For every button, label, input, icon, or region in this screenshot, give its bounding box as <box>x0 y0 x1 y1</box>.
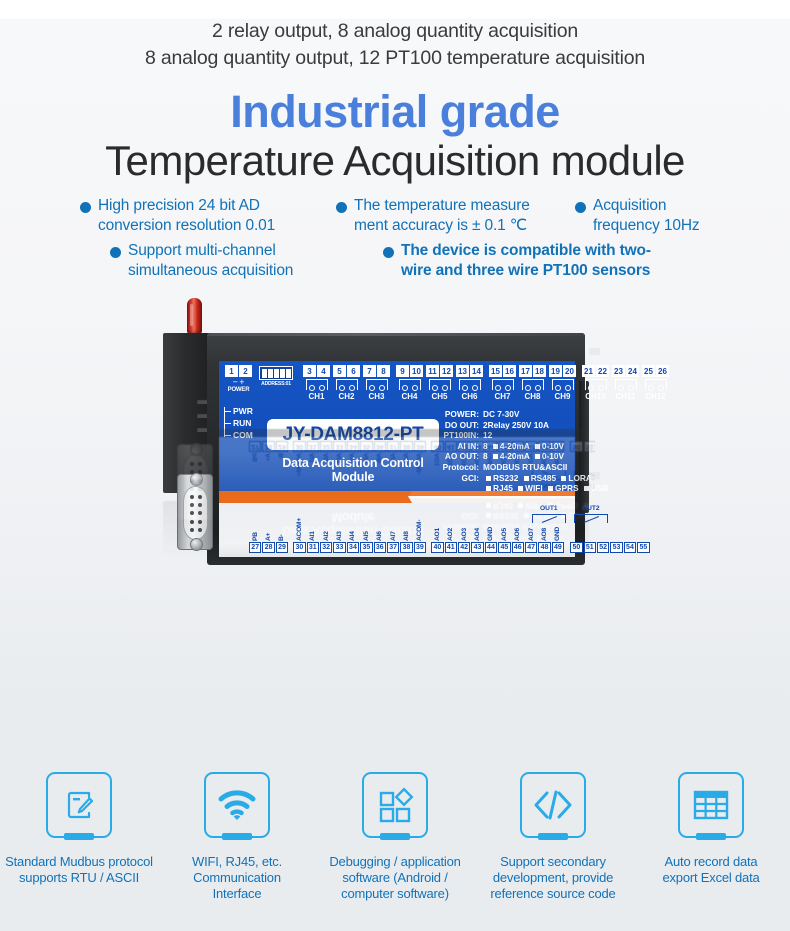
bullet-item-frequency: Acquisition frequency 10Hz <box>575 196 699 235</box>
channel-terminal-group: 56CH2 <box>333 593 360 629</box>
terminal-number: 10 <box>410 365 423 377</box>
terminal-number: 30 <box>293 542 305 553</box>
led-label-pwr: PWR <box>225 405 253 417</box>
icon-base-tab <box>64 833 94 840</box>
rail-notch <box>589 348 600 355</box>
terminal-number: 18 <box>533 365 546 377</box>
terminal-numbers: 2122 <box>582 617 609 629</box>
terminal-number: 51 <box>584 542 596 553</box>
spec-value: 8 4-20mA 0-10V <box>479 451 564 462</box>
terminal-number: 19 <box>549 617 562 629</box>
terminal-numbers: 34 <box>303 365 330 377</box>
dip-switch-icon[interactable] <box>259 366 293 380</box>
pt100-sensor-symbol-icon <box>366 604 388 615</box>
app-blocks-icon <box>375 786 415 824</box>
relay-output-label: OUT1 <box>540 505 558 512</box>
terminal-numbers: 1112 <box>426 617 453 629</box>
terminal-number: 25 <box>642 617 655 629</box>
led-label-pwr: PWR <box>225 577 253 589</box>
specification-list: POWER:DC 7-30V DO OUT:2Relay 250V 10A PT… <box>431 409 569 494</box>
channel-label: CH10 <box>585 392 605 401</box>
relay-output-label: OUT2 <box>582 505 600 512</box>
terminal-number: 8 <box>377 365 390 377</box>
terminal-group: PB27A+28B-29 <box>249 517 288 553</box>
pt100-sensor-symbol-icon <box>429 379 451 390</box>
terminal-numbers: 12 <box>225 617 252 629</box>
channel-label: CH12 <box>645 392 665 401</box>
terminal-number: 4 <box>317 617 330 629</box>
address-caption: ADDRESS:01 <box>261 607 291 613</box>
channel-label: CH6 <box>461 392 477 401</box>
terminal-number: 25 <box>642 365 655 377</box>
terminal-name: B- <box>278 517 285 541</box>
bullet-line-2: conversion resolution 0.01 <box>98 217 275 234</box>
terminal-numbers: 78 <box>363 617 390 629</box>
checkbox-icon <box>584 486 589 491</box>
connector-screw <box>190 538 203 551</box>
terminal-number: 55 <box>637 542 649 553</box>
feature-excel-export[interactable]: Auto record data export Excel data <box>632 772 790 902</box>
terminal-number: 16 <box>503 617 516 629</box>
terminal-cell: AI131 <box>307 517 319 553</box>
terminal-cell: 54 <box>624 441 636 477</box>
checkbox-icon <box>535 454 540 459</box>
feature-label: WIFI, RJ45, etc. Communication Interface <box>182 854 292 902</box>
terminal-number: 7 <box>363 365 376 377</box>
channel-terminal-group: 2324CH11 <box>612 365 639 401</box>
terminal-name: AI2 <box>323 517 330 541</box>
led-label-com: COM <box>225 429 253 441</box>
terminal-number: 55 <box>637 441 649 452</box>
channel-terminal-group: 910CH4 <box>396 365 423 401</box>
terminal-cell: AO646 <box>512 517 524 553</box>
product-banner: 2 relay output, 8 analog quantity acquis… <box>0 0 790 931</box>
bullet-line-1: Support multi-channel <box>128 242 276 259</box>
channel-terminal-group: 2526CH12 <box>642 365 669 401</box>
terminal-number: 10 <box>410 617 423 629</box>
terminal-number: 12 <box>440 365 453 377</box>
pt100-sensor-symbol-icon <box>552 604 574 615</box>
terminal-numbers: 2324 <box>612 365 639 377</box>
terminal-cell: AO140 <box>431 517 443 553</box>
channel-label: CH4 <box>401 593 417 602</box>
feature-secondary-dev[interactable]: Support secondary development, provide r… <box>474 772 632 902</box>
terminal-number: 33 <box>333 542 345 553</box>
bottom-strip: PB27A+28B-29ACOM+30AI131AI232AI333AI434A… <box>219 491 575 557</box>
spec-row: GCI: RS232 RS485 LORA <box>431 473 569 484</box>
edit-document-icon <box>60 786 98 824</box>
spec-key: AO OUT: <box>431 451 479 462</box>
terminal-number: 14 <box>470 617 483 629</box>
channel-label: CH5 <box>431 593 447 602</box>
code-brackets-icon <box>532 789 574 821</box>
terminal-number: 21 <box>582 365 595 377</box>
bullet-line-1: The temperature measure <box>354 197 530 214</box>
channel-label: CH2 <box>338 392 354 401</box>
spec-option: 4-20mA <box>500 451 530 461</box>
checkbox-icon <box>493 454 498 459</box>
pt100-sensor-symbol-icon <box>615 604 637 615</box>
power-polarity: － ＋ <box>233 608 245 616</box>
terminal-cell: 55 <box>637 517 649 553</box>
terminal-number: 52 <box>597 441 609 452</box>
subhead-line-2: 8 analog quantity output, 12 PT100 tempe… <box>0 45 790 72</box>
terminal-number: 2 <box>239 617 252 629</box>
terminal-number: 48 <box>538 542 550 553</box>
page-title: Temperature Acquisition module <box>0 136 790 186</box>
pt100-sensor-symbol-icon <box>336 604 358 615</box>
terminal-cell: ACOM+30 <box>293 517 305 553</box>
terminal-numbers: 78 <box>363 365 390 377</box>
channel-terminal-group: 2526CH12 <box>642 593 669 629</box>
terminal-number: 7 <box>363 617 376 629</box>
spec-option: 0-10V <box>542 441 564 451</box>
terminal-number: 54 <box>624 441 636 452</box>
feature-debugging[interactable]: Debugging / application software (Androi… <box>316 772 474 902</box>
bullet-line-2: simultaneous acquisition <box>128 262 293 279</box>
spec-row: AI IN:8 4-20mA 0-10V <box>431 441 569 452</box>
bullet-text: Support multi-channel simultaneous acqui… <box>128 241 293 280</box>
bullet-text: High precision 24 bit AD conversion reso… <box>98 196 275 235</box>
model-badge: JY-DAM8812-PT <box>267 419 439 450</box>
relay-contact-symbol-icon <box>574 514 608 523</box>
terminal-name: AI4 <box>349 517 356 541</box>
spec-value: RS232 RS485 LORA <box>479 473 592 484</box>
antenna-icon <box>187 660 202 696</box>
channel-terminal-group: 2122CH10 <box>582 593 609 629</box>
pt100-sensor-symbol-icon <box>429 604 451 615</box>
pt100-sensor-symbol-icon <box>522 379 544 390</box>
pt100-sensor-symbol-icon <box>492 379 514 390</box>
terminal-numbers: 2324 <box>612 617 639 629</box>
terminal-name: ACOM+ <box>296 517 303 541</box>
power-polarity: － ＋ <box>233 378 245 386</box>
feature-icon-box <box>46 772 112 838</box>
connector-screw <box>190 473 203 486</box>
channel-label: CH6 <box>461 593 477 602</box>
terminal-cell: B-29 <box>276 517 288 553</box>
feature-modbus[interactable]: Standard Mudbus protocol supports RTU / … <box>0 772 158 902</box>
channel-label: CH12 <box>645 593 665 602</box>
spec-value: MODBUS RTU&ASCII <box>479 462 567 473</box>
terminal-number: 44 <box>485 542 497 553</box>
terminal-number: 2 <box>239 365 252 377</box>
spec-key: DO OUT: <box>431 420 479 431</box>
terminal-number: 16 <box>503 365 516 377</box>
terminal-name: AO3 <box>461 517 468 541</box>
feature-icon-row: Standard Mudbus protocol supports RTU / … <box>0 772 790 902</box>
feature-wifi[interactable]: WIFI, RJ45, etc. Communication Interface <box>158 772 316 902</box>
terminal-number: 20 <box>563 617 576 629</box>
terminal-cell: 53 <box>610 441 622 477</box>
relay-contact-symbol-icon <box>532 514 566 523</box>
top-terminal-strip: 12－ ＋POWERADDRESS:0134CH156CH278CH3910CH… <box>219 363 575 403</box>
terminal-number: 17 <box>519 617 532 629</box>
terminal-number: 13 <box>456 617 469 629</box>
spreadsheet-table-icon <box>691 788 731 822</box>
terminal-cell: AI636 <box>374 517 386 553</box>
terminal-group: ACOM+30AI131AI232AI333AI434AI535AI636AI7… <box>293 517 426 553</box>
terminal-number: 17 <box>519 365 532 377</box>
product-device-image: 12－ ＋POWERADDRESS:0134CH156CH278CH3910CH… <box>155 296 595 576</box>
terminal-number: 32 <box>320 542 332 553</box>
orange-step-stripe <box>219 491 412 503</box>
terminal-number: 31 <box>307 542 319 553</box>
terminal-number: 34 <box>347 542 359 553</box>
checkbox-icon <box>524 476 529 481</box>
channel-terminal-group: 34CH1 <box>303 593 330 629</box>
terminal-numbers: 2526 <box>642 365 669 377</box>
bullet-line-2: wire and three wire PT100 sensors <box>401 262 650 279</box>
terminal-numbers: 1516 <box>489 617 516 629</box>
icon-base-tab <box>380 833 410 840</box>
top-terminal-strip: 12－ ＋POWERADDRESS:0134CH156CH278CH3910CH… <box>219 591 575 631</box>
terminal-name: AI1 <box>309 517 316 541</box>
channel-label: CH1 <box>308 593 324 602</box>
wifi-icon <box>217 788 257 822</box>
antenna-icon <box>187 298 202 334</box>
terminal-number: 22 <box>596 365 609 377</box>
bullet-dot-icon <box>383 247 394 258</box>
channel-label: CH9 <box>554 593 570 602</box>
terminal-number: 23 <box>612 365 625 377</box>
bullet-line-1: The device is compatible with two- <box>401 242 651 259</box>
terminal-number: 13 <box>456 365 469 377</box>
channel-terminal-group: 1314CH6 <box>456 365 483 401</box>
led-legend: PWR RUN COM <box>225 405 253 441</box>
channel-terminal-group: 1920CH9 <box>549 365 576 401</box>
channel-terminal-group: 1718CH8 <box>519 593 546 629</box>
terminal-number: 12 <box>440 617 453 629</box>
bottom-terminal-strip: PB27A+28B-29ACOM+30AI131AI232AI333AI434A… <box>249 505 569 553</box>
pt100-sensor-symbol-icon <box>366 379 388 390</box>
channel-terminal-group: 1112CH5 <box>426 365 453 401</box>
pt100-sensor-symbol-icon <box>336 379 358 390</box>
channel-label: CH1 <box>308 392 324 401</box>
bullet-line-2: frequency 10Hz <box>593 217 699 234</box>
bullet-item-accuracy: The temperature measure ment accuracy is… <box>336 196 530 235</box>
pt100-sensor-symbol-icon <box>459 379 481 390</box>
terminal-numbers: 1920 <box>549 617 576 629</box>
terminal-cell: PB27 <box>249 517 261 553</box>
channel-label: CH3 <box>368 392 384 401</box>
terminal-number: 50 <box>570 542 582 553</box>
terminal-cell: AI535 <box>360 517 372 553</box>
terminal-name: AO2 <box>447 517 454 541</box>
db9-pins <box>190 495 203 533</box>
icon-base-tab <box>696 833 726 840</box>
bullet-text: The device is compatible with two- wire … <box>401 241 651 280</box>
spec-option: USB <box>591 483 609 493</box>
terminal-number: 27 <box>249 542 261 553</box>
terminal-number: 40 <box>431 542 443 553</box>
spec-key: PT100IN: <box>431 430 479 441</box>
pt100-sensor-symbol-icon <box>645 604 667 615</box>
feature-label: Standard Mudbus protocol supports RTU / … <box>0 854 158 886</box>
terminal-name: ACOM- <box>416 517 423 541</box>
channel-terminal-group: 34CH1 <box>303 365 330 401</box>
channel-terminal-group: 2122CH10 <box>582 365 609 401</box>
address-dip-switch[interactable]: ADDRESS:01 <box>259 366 293 387</box>
terminal-number: 19 <box>549 365 562 377</box>
terminal-numbers: 1314 <box>456 365 483 377</box>
pt100-sensor-symbol-icon <box>399 379 421 390</box>
terminal-numbers: 1112 <box>426 365 453 377</box>
spec-key: Protocol: <box>431 462 479 473</box>
spec-row: DO OUT:2Relay 250V 10A <box>431 420 569 431</box>
channel-terminal-group: 2324CH11 <box>612 593 639 629</box>
channel-terminal-group: 1112CH5 <box>426 593 453 629</box>
bullet-item-sensors: The device is compatible with two- wire … <box>383 241 651 280</box>
led-label-run: RUN <box>225 417 253 429</box>
terminal-number: 52 <box>597 542 609 553</box>
terminal-number: 35 <box>360 542 372 553</box>
spec-option: RS232 <box>493 473 518 483</box>
header: 2 relay output, 8 analog quantity acquis… <box>0 18 790 186</box>
terminal-cell: 55 <box>637 441 649 477</box>
pt100-sensor-symbol-icon <box>492 604 514 615</box>
power-terminal-group: 12－ ＋POWER <box>225 601 252 629</box>
spec-option: LORA <box>568 473 592 483</box>
channel-label: CH7 <box>494 392 510 401</box>
spec-value: DC 7-30V <box>479 409 519 420</box>
terminal-number: 28 <box>262 542 274 553</box>
terminal-number: 37 <box>387 542 399 553</box>
feature-icon-box <box>204 772 270 838</box>
vent-slot <box>197 576 211 581</box>
terminal-cell: ACOM-39 <box>414 517 426 553</box>
spec-value: 8 4-20mA 0-10V <box>479 441 564 452</box>
terminal-number: 3 <box>303 365 316 377</box>
spec-option: 0-10V <box>542 451 564 461</box>
terminal-cell: AO545 <box>498 517 510 553</box>
terminal-number: 3 <box>303 617 316 629</box>
spec-key: AI IN: <box>431 441 479 452</box>
device-subtitle: Data Acquisition Control Module <box>267 456 439 484</box>
bullet-text: The temperature measure ment accuracy is… <box>354 196 530 235</box>
channel-terminal-group: 1516CH7 <box>489 593 516 629</box>
terminal-numbers: 2526 <box>642 617 669 629</box>
checkbox-icon <box>493 444 498 449</box>
dip-switch-icon <box>259 614 293 628</box>
spec-key: GCI: <box>431 473 479 484</box>
bullet-line-1: Acquisition <box>593 197 666 214</box>
terminal-number: 53 <box>610 542 622 553</box>
power-terminal-group: 12－ ＋POWER <box>225 365 252 393</box>
terminal-name: AO4 <box>474 517 481 541</box>
spec-row: Protocol:MODBUS RTU&ASCII <box>431 462 569 473</box>
terminal-number: 5 <box>333 617 346 629</box>
terminal-cell: A+28 <box>262 517 274 553</box>
terminal-number: 6 <box>347 617 360 629</box>
terminal-numbers: 1718 <box>519 617 546 629</box>
terminal-number: 24 <box>626 365 639 377</box>
terminal-number: 18 <box>533 617 546 629</box>
channel-label: CH2 <box>338 593 354 602</box>
page-title-accent: Industrial grade <box>0 86 790 138</box>
terminal-name: AO1 <box>434 517 441 541</box>
spec-row: PT100IN:12 <box>431 430 569 441</box>
terminal-number: 1 <box>225 617 238 629</box>
terminal-cell: 53 <box>610 517 622 553</box>
bullet-dot-icon <box>110 247 121 258</box>
spec-row: POWER:DC 7-30V <box>431 409 569 420</box>
spec-option: 4-20mA <box>500 441 530 451</box>
terminal-number: 45 <box>498 542 510 553</box>
channel-label: CH11 <box>615 593 635 602</box>
address-caption: ADDRESS:01 <box>261 381 291 387</box>
terminal-number: 14 <box>470 365 483 377</box>
device-left-flange <box>163 333 211 493</box>
spec-key: POWER: <box>431 409 479 420</box>
db9-shell <box>183 486 208 540</box>
pt100-sensor-symbol-icon <box>306 604 328 615</box>
feature-icon-box <box>678 772 744 838</box>
terminal-number: 15 <box>489 365 502 377</box>
bullet-item-multichannel: Support multi-channel simultaneous acqui… <box>110 241 293 280</box>
terminal-cell: AI333 <box>333 517 345 553</box>
terminal-name: PB <box>252 517 259 541</box>
terminal-cell: 54 <box>624 517 636 553</box>
pt100-sensor-symbol-icon <box>645 379 667 390</box>
feature-label: Auto record data export Excel data <box>656 854 766 886</box>
terminal-number: 24 <box>626 617 639 629</box>
channel-terminal-group: 1516CH7 <box>489 365 516 401</box>
terminal-number: 36 <box>374 542 386 553</box>
terminal-name: AO6 <box>514 517 521 541</box>
bullet-text: Acquisition frequency 10Hz <box>593 196 699 235</box>
bullet-dot-icon <box>336 202 347 213</box>
terminal-number: 11 <box>426 617 439 629</box>
pt100-sensor-symbol-icon <box>552 379 574 390</box>
channel-label: CH7 <box>494 593 510 602</box>
address-dip-switch: ADDRESS:01 <box>259 607 293 628</box>
terminal-name: A+ <box>265 517 272 541</box>
terminal-number: 43 <box>471 542 483 553</box>
channel-label: CH8 <box>524 593 540 602</box>
db9-serial-connector <box>177 474 213 550</box>
terminal-numbers: 1314 <box>456 617 483 629</box>
terminal-name: AO5 <box>501 517 508 541</box>
channel-terminal-group: 78CH3 <box>363 365 390 401</box>
terminal-number: 47 <box>525 542 537 553</box>
bullet-dot-icon <box>575 202 586 213</box>
feature-label: Debugging / application software (Androi… <box>316 854 474 902</box>
terminal-numbers: 1516 <box>489 365 516 377</box>
terminal-cell: AI838 <box>400 517 412 553</box>
vent-slot <box>197 590 211 595</box>
terminal-cell: AO241 <box>445 517 457 553</box>
spec-row: AO OUT:8 4-20mA 0-10V <box>431 451 569 462</box>
channel-label: CH11 <box>615 392 635 401</box>
terminal-name: AI5 <box>363 517 370 541</box>
terminal-number: 26 <box>656 365 669 377</box>
bullet-dot-icon <box>80 202 91 213</box>
channel-label: CH3 <box>368 593 384 602</box>
terminal-cell: AI232 <box>320 517 332 553</box>
terminal-number: 5 <box>333 365 346 377</box>
terminal-number: 39 <box>414 542 426 553</box>
channel-terminal-group: 910CH4 <box>396 593 423 629</box>
power-caption: POWER <box>228 387 250 393</box>
channel-label: CH5 <box>431 392 447 401</box>
terminal-numbers: 56 <box>333 365 360 377</box>
terminal-number: 23 <box>612 617 625 629</box>
terminal-numbers: 1920 <box>549 365 576 377</box>
terminal-numbers: 1718 <box>519 365 546 377</box>
terminal-number: 54 <box>624 542 636 553</box>
channel-terminal-group: 56CH2 <box>333 365 360 401</box>
